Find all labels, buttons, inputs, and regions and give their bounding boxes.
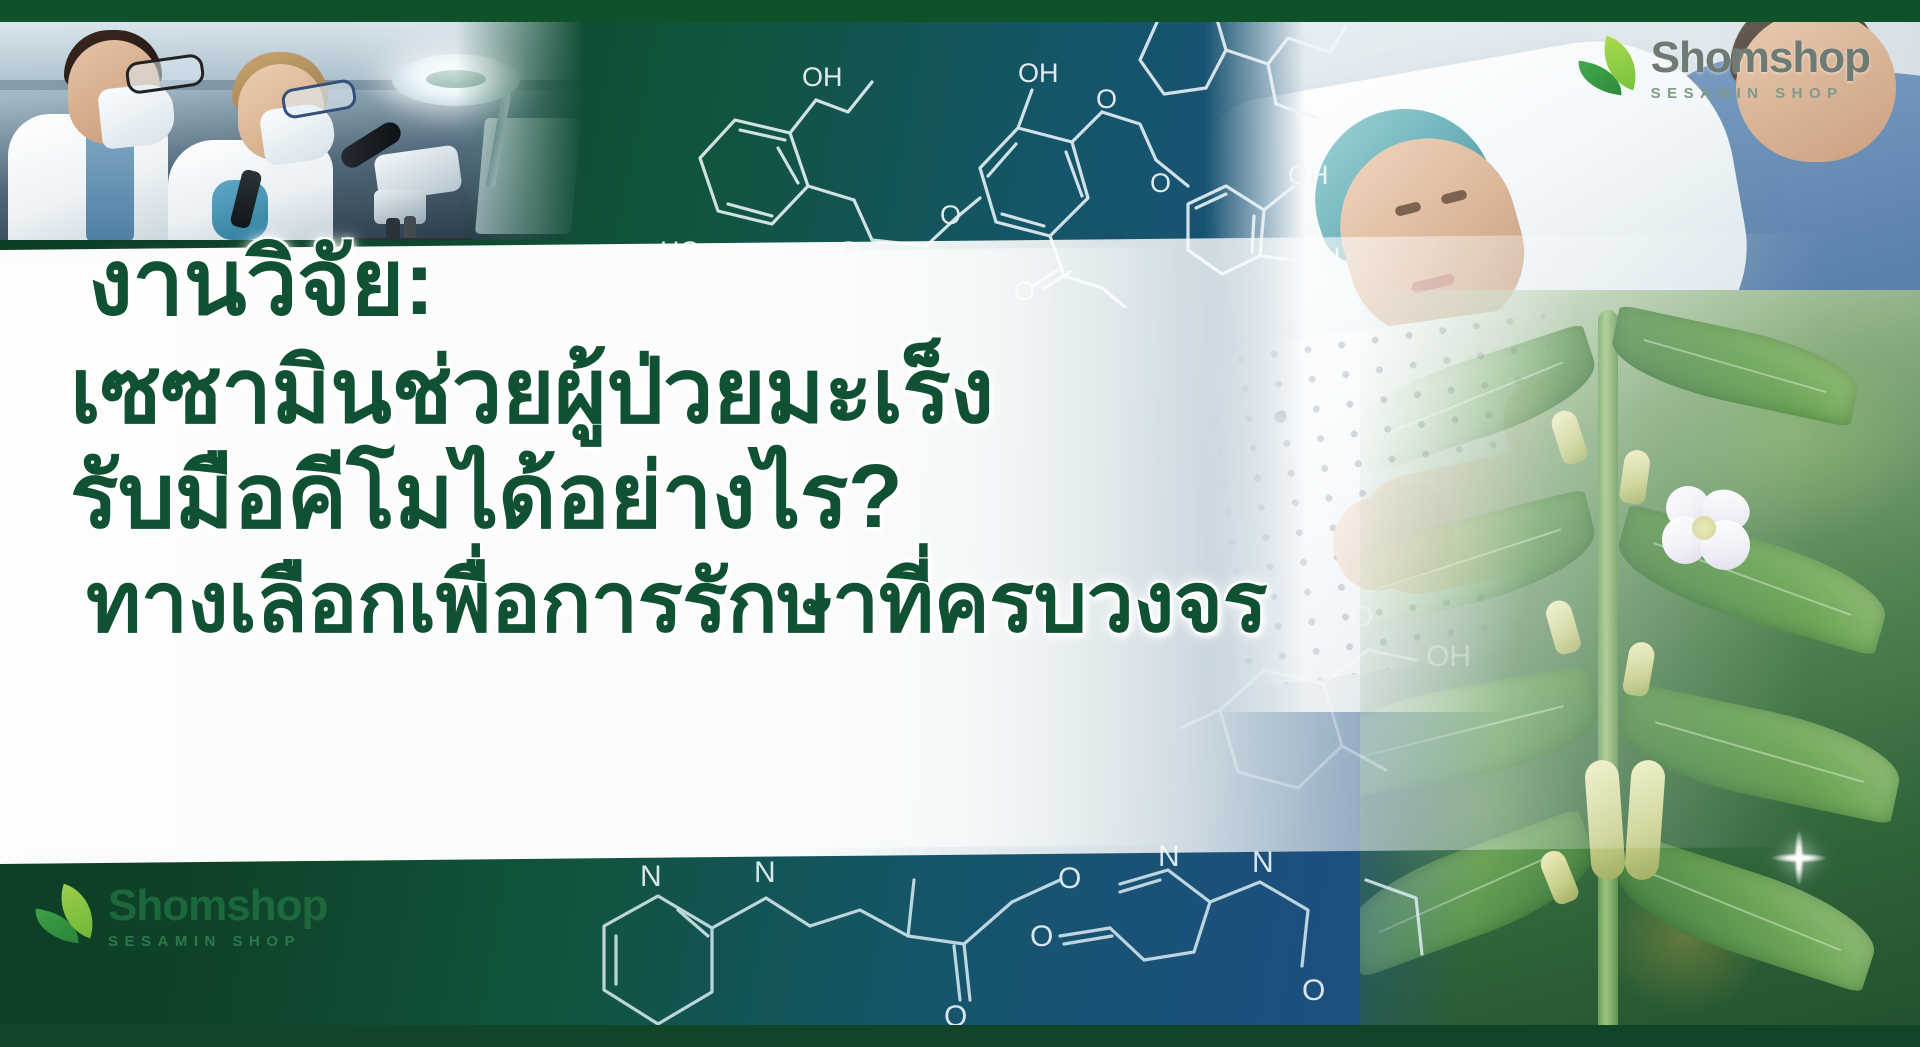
frame-border-bottom: [0, 1025, 1920, 1047]
lamp-lens: [426, 70, 486, 88]
logo-tagline: SESAMIN SHOP: [108, 934, 327, 949]
headline-line-2: เซซามินช่วยผู้ป่วยมะเร็ง: [70, 346, 1540, 440]
banner-root: OH HO OH O O O O OH OH O: [0, 0, 1920, 1047]
frame-border-top: [0, 0, 1920, 22]
two-leaves-icon: [34, 889, 100, 945]
logo-tagline: SESAMIN SHOP: [1651, 86, 1870, 101]
logo-brand-name: Shomshop: [1651, 36, 1870, 80]
logo-bottom-left[interactable]: Shomshop SESAMIN SHOP: [34, 884, 327, 949]
logo-text-group: Shomshop SESAMIN SHOP: [108, 884, 327, 949]
microscope-tube: [374, 190, 426, 224]
headline-block: งานวิจัย: เซซามินช่วยผู้ป่วยมะเร็ง รับมื…: [0, 236, 1540, 646]
logo-brand-name: Shomshop: [108, 884, 327, 928]
headline-line-4: ทางเลือกเพื่อการรักษาที่ครบวงจร: [70, 559, 1540, 646]
logo-top-right[interactable]: Shomshop SESAMIN SHOP: [1577, 36, 1870, 101]
two-leaves-icon: [1577, 41, 1643, 97]
laboratory-scientists-photo: [0, 22, 585, 240]
magnifier-lamp-icon: [392, 54, 520, 106]
logo-text-group: Shomshop SESAMIN SHOP: [1651, 36, 1870, 101]
headline-line-1: งานวิจัย:: [70, 236, 1540, 332]
headline-line-3: รับมือคีโมได้อย่างไร?: [70, 451, 1540, 545]
